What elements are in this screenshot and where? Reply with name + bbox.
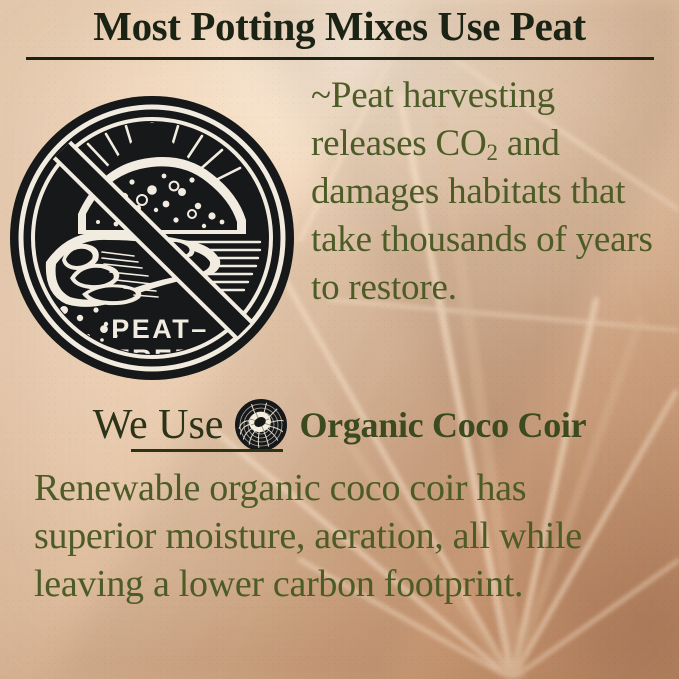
title-underline [26,57,654,60]
we-use-row: We Use [0,400,679,450]
coco-coir-label: Organic Coco Coir [299,407,586,443]
co2-subscript: 2 [487,140,498,165]
coconut-coir-icon [235,399,287,451]
peat-impact-paragraph: ~Peat harvesting releases CO2 and damage… [311,72,677,312]
we-use-underline [131,449,283,452]
coco-coir-benefits-paragraph: Renewable organic coco coir has superior… [34,464,654,608]
we-use-label: We Use [93,404,224,446]
page-title: Most Potting Mixes Use Peat [0,6,679,47]
peat-free-badge: •PEAT– –FREE– [6,92,298,384]
svg-text:•PEAT–: •PEAT– [99,314,208,344]
peat-free-coco-coir-infographic: Most Potting Mixes Use Peat ~Peat harves… [0,0,679,679]
